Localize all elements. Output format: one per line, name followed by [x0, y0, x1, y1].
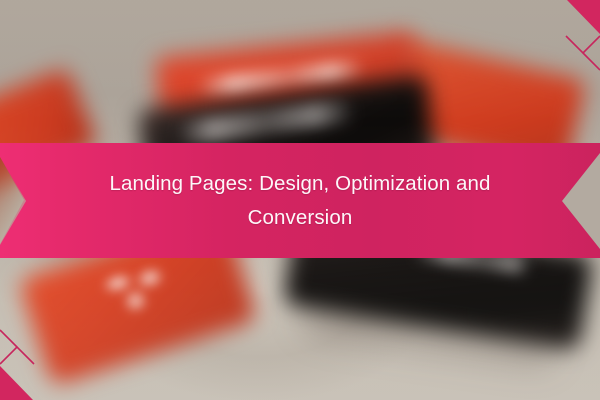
triangle-accent-top-right-icon: [536, 0, 600, 84]
triangle-accent-bottom-left-icon: [0, 316, 64, 400]
title-banner: Landing Pages: Design, Optimization and …: [0, 143, 600, 258]
page-title: Landing Pages: Design, Optimization and …: [0, 143, 600, 258]
banner-stage: Landing Pages: Design, Optimization and …: [0, 0, 600, 400]
